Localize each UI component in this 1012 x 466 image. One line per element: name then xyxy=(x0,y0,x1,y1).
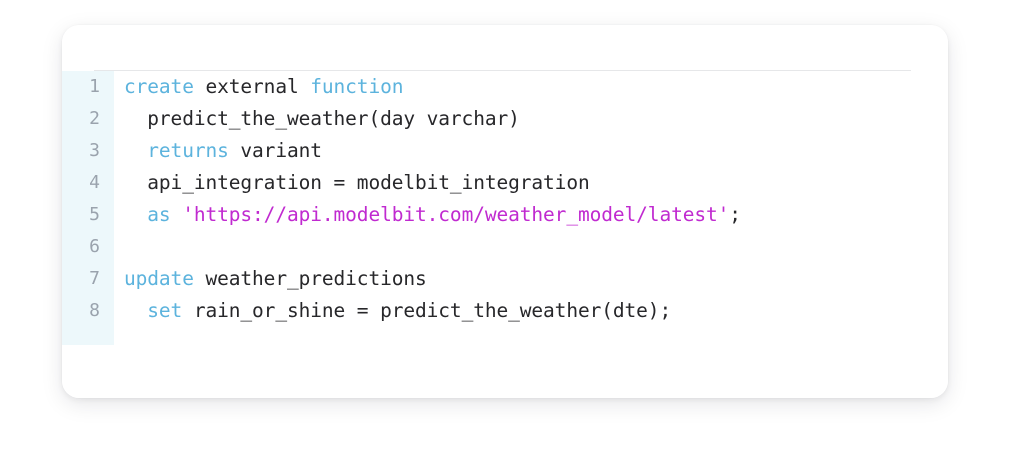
page-background: 1create external function2 predict_the_w… xyxy=(0,0,1012,466)
code-editor[interactable]: 1create external function2 predict_the_w… xyxy=(62,71,948,398)
code-line-text: api_integration = modelbit_integration xyxy=(124,167,590,199)
code-token-str: 'https://api.modelbit.com/weather_model/… xyxy=(182,203,729,226)
code-line[interactable]: 5 as 'https://api.modelbit.com/weather_m… xyxy=(62,199,948,231)
code-line-text: returns variant xyxy=(124,135,322,167)
code-line[interactable]: 2 predict_the_weather(day varchar) xyxy=(62,103,948,135)
line-number: 6 xyxy=(62,231,100,263)
line-number: 4 xyxy=(62,167,100,199)
line-number: 2 xyxy=(62,103,100,135)
code-line[interactable]: 8 set rain_or_shine = predict_the_weathe… xyxy=(62,295,948,327)
code-line[interactable]: 6 xyxy=(62,231,948,263)
line-number: 7 xyxy=(62,263,100,295)
code-line-text: predict_the_weather(day varchar) xyxy=(124,103,520,135)
code-token-plain: api_integration = modelbit_integration xyxy=(124,171,590,194)
code-token-plain xyxy=(124,139,147,162)
code-line[interactable]: 1create external function xyxy=(62,71,948,103)
code-line-text: update weather_predictions xyxy=(124,263,427,295)
code-token-plain: external xyxy=(194,75,310,98)
code-token-plain: predict_the_weather(day varchar) xyxy=(124,107,520,130)
code-token-kw: function xyxy=(310,75,403,98)
code-snippet-card: 1create external function2 predict_the_w… xyxy=(62,25,948,398)
code-line[interactable]: 7update weather_predictions xyxy=(62,263,948,295)
code-line[interactable]: 4 api_integration = modelbit_integration xyxy=(62,167,948,199)
code-token-plain: weather_predictions xyxy=(194,267,427,290)
code-token-plain xyxy=(124,203,147,226)
code-line-text: as 'https://api.modelbit.com/weather_mod… xyxy=(124,199,741,231)
code-line-text: create external function xyxy=(124,71,403,103)
code-token-kw: update xyxy=(124,267,194,290)
code-token-kw: create xyxy=(124,75,194,98)
code-token-plain xyxy=(171,203,183,226)
code-content[interactable]: 1create external function2 predict_the_w… xyxy=(62,71,948,345)
code-token-kw: as xyxy=(147,203,170,226)
code-token-plain: variant xyxy=(229,139,322,162)
code-token-kw: set xyxy=(147,299,182,322)
line-number: 3 xyxy=(62,135,100,167)
code-token-plain: rain_or_shine = predict_the_weather(dte)… xyxy=(182,299,671,322)
line-number: 8 xyxy=(62,295,100,327)
line-number: 1 xyxy=(62,71,100,103)
code-line-text: set rain_or_shine = predict_the_weather(… xyxy=(124,295,671,327)
code-token-plain xyxy=(124,299,147,322)
code-line[interactable]: 3 returns variant xyxy=(62,135,948,167)
line-number: 5 xyxy=(62,199,100,231)
code-token-kw: returns xyxy=(147,139,228,162)
code-token-plain: ; xyxy=(729,203,741,226)
card-toolbar xyxy=(62,25,948,70)
